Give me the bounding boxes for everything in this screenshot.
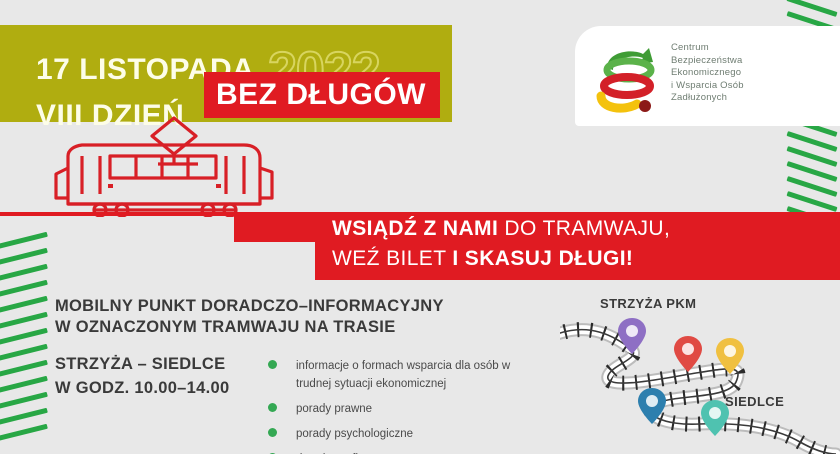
slogan-banner: WSIĄDŹ Z NAMI DO TRAMWAJU, WEŹ BILET I S… — [234, 216, 840, 280]
logo-text-block: Centrum Bezpieczeństwa Ekonomicznego i W… — [671, 42, 744, 105]
banner-line-2-rest: WEŹ BILET — [332, 247, 452, 270]
banner-line-2: WEŹ BILET I SKASUJ DŁUGI! — [332, 248, 633, 269]
logo-text-line: Bezpieczeństwa — [671, 55, 744, 68]
green-dash — [0, 424, 48, 441]
map-label-start: STRZYŻA PKM — [600, 296, 696, 311]
logo-text-line: i Wsparcia Osób — [671, 80, 744, 93]
list-item-label: porady psychologiczne — [296, 428, 413, 440]
railway-track-graphic — [560, 286, 840, 454]
bullet-dot-icon — [268, 403, 277, 412]
route-block: STRZYŻA – SIEDLCE W GODZ. 10.00–14.00 — [55, 352, 229, 400]
green-dash — [787, 146, 838, 167]
green-dash — [0, 344, 48, 361]
green-dash — [787, 131, 838, 152]
headline-block: MOBILNY PUNKT DORADCZO–INFORMACYJNY W OZ… — [55, 296, 444, 338]
list-item: informacje o formach wsparcia dla osób w… — [268, 356, 518, 392]
green-dash — [787, 0, 838, 17]
list-item: porady prawne — [268, 399, 518, 417]
green-dash — [787, 161, 838, 182]
list-item: doradztwo finansowe — [268, 449, 518, 454]
logo-text-line: Zadłużonych — [671, 92, 744, 105]
green-dash — [0, 248, 48, 265]
banner-line-1: WSIĄDŹ Z NAMI DO TRAMWAJU, — [332, 218, 670, 239]
centrum-swirl-logo-icon — [593, 38, 665, 114]
map-label-end: SIEDLCE — [725, 394, 784, 409]
green-dash — [0, 408, 48, 425]
green-dash — [0, 280, 48, 297]
banner-line-1-rest: DO TRAMWAJU, — [498, 217, 670, 240]
tram-illustration-icon — [48, 112, 298, 217]
route-line-1: STRZYŻA – SIEDLCE — [55, 352, 229, 376]
bullet-dot-icon — [268, 360, 277, 369]
list-item: porady psychologiczne — [268, 424, 518, 442]
logo-panel: Centrum Bezpieczeństwa Ekonomicznego i W… — [575, 26, 840, 126]
green-dash — [0, 264, 48, 281]
services-list: informacje o formach wsparcia dla osób w… — [268, 356, 518, 454]
header-highlight-text: BEZ DŁUGÓW — [216, 80, 426, 110]
headline-line-1: MOBILNY PUNKT DORADCZO–INFORMACYJNY — [55, 296, 444, 317]
list-item-label: porady prawne — [296, 403, 372, 415]
route-line-2: W GODZ. 10.00–14.00 — [55, 376, 229, 400]
banner-line-1-bold: WSIĄDŹ Z NAMI — [332, 217, 498, 240]
green-dash — [787, 191, 838, 212]
list-item-label: informacje o formach wsparcia dla osób w… — [296, 360, 510, 390]
green-dash — [0, 232, 48, 249]
headline-line-2: W OZNACZONYM TRAMWAJU NA TRASIE — [55, 317, 444, 338]
green-dash — [0, 392, 48, 409]
route-map: STRZYŻA PKM SIEDLCE — [560, 286, 840, 454]
green-dash — [0, 376, 48, 393]
poster-root: 2022 17 LISTOPADA VIII DZIEŃ BEZ DŁUGÓW … — [0, 0, 840, 454]
bullet-dot-icon — [268, 428, 277, 437]
green-dash — [787, 176, 838, 197]
green-dash — [0, 296, 48, 313]
logo-text-line: Centrum — [671, 42, 744, 55]
banner-line-2-bold: I SKASUJ DŁUGI! — [452, 247, 633, 270]
green-dash — [0, 312, 48, 329]
green-dash — [0, 360, 48, 377]
green-dash — [0, 328, 48, 345]
logo-text-line: Ekonomicznego — [671, 67, 744, 80]
